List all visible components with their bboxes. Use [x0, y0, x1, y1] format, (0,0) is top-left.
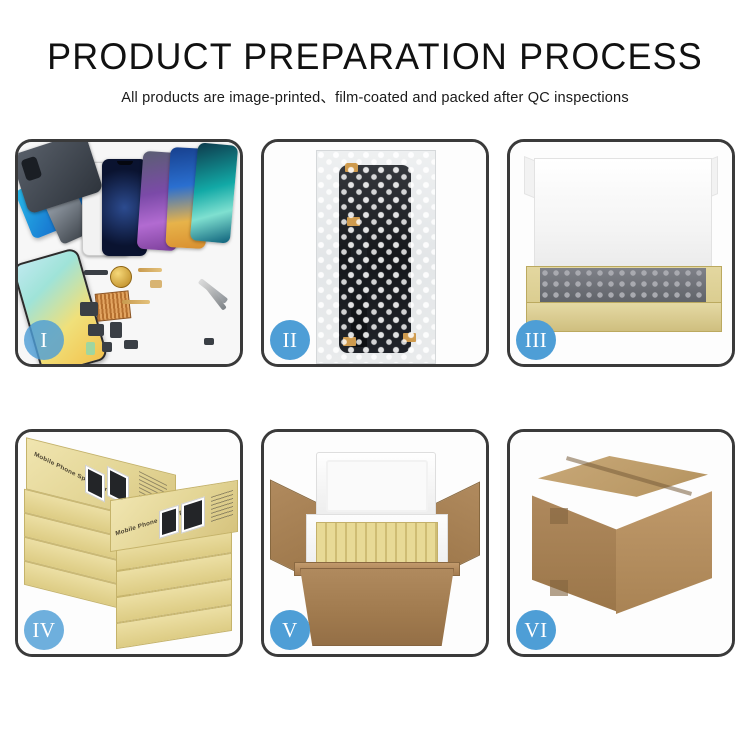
- label-window: [85, 465, 105, 503]
- spare-part: [204, 338, 214, 345]
- page-subtitle: All products are image-printed、film-coat…: [0, 86, 750, 107]
- label-spec-lines: [211, 490, 233, 523]
- spare-part: [110, 322, 122, 338]
- header: PRODUCT PREPARATION PROCESS All products…: [0, 0, 750, 107]
- spare-part: [84, 270, 108, 275]
- step-badge-1: I: [24, 320, 64, 360]
- chip-contact-grid: [95, 290, 132, 321]
- label-window: [181, 496, 205, 534]
- label-screen-image: [88, 469, 102, 498]
- bubble-wrap-contents: [540, 268, 706, 306]
- label-screen-image: [184, 500, 202, 530]
- product-preparation-infographic: PRODUCT PREPARATION PROCESS All products…: [0, 0, 750, 750]
- foam-cooler-lid-inner: [326, 460, 428, 512]
- carton-left-face: [532, 488, 618, 612]
- carton-right-face: [616, 486, 712, 614]
- kraft-box-front: [526, 302, 722, 332]
- page-title: PRODUCT PREPARATION PROCESS: [11, 38, 739, 77]
- process-step-panel-3: III: [507, 139, 735, 367]
- spare-part: [138, 268, 162, 272]
- step-badge-4: IV: [24, 610, 64, 650]
- process-step-panel-5: V: [261, 429, 489, 657]
- spare-part: [80, 302, 98, 316]
- step-badge-5: V: [270, 610, 310, 650]
- process-step-panel-4: Mobile Phone Spare Parts Mobile Phone Sp…: [15, 429, 243, 657]
- process-step-panel-2: II: [261, 139, 489, 367]
- spare-part: [124, 340, 138, 349]
- phone-screen-teal: [190, 142, 238, 243]
- step-badge-2: II: [270, 320, 310, 360]
- speaker-component: [110, 266, 132, 288]
- spare-part: [88, 324, 104, 336]
- box-lid: [534, 158, 712, 278]
- notch: [117, 161, 133, 165]
- step-badge-3: III: [516, 320, 556, 360]
- label-window: [159, 505, 179, 539]
- bubble-wrap-bag: [316, 150, 436, 364]
- carton-body: [300, 568, 454, 646]
- step-badge-6: VI: [516, 610, 556, 650]
- spare-part: [102, 342, 112, 352]
- spare-part: [122, 300, 150, 304]
- process-steps-grid: I II: [15, 139, 735, 657]
- label-screen-image: [162, 509, 176, 535]
- camera-module: [20, 156, 42, 182]
- carton-tape-patch: [550, 508, 568, 524]
- spare-part: [86, 342, 95, 355]
- spare-part: [150, 280, 162, 288]
- bubble-texture: [317, 151, 435, 363]
- process-step-panel-1: I: [15, 139, 243, 367]
- process-step-panel-6: VI: [507, 429, 735, 657]
- carton-tape-patch: [550, 580, 568, 596]
